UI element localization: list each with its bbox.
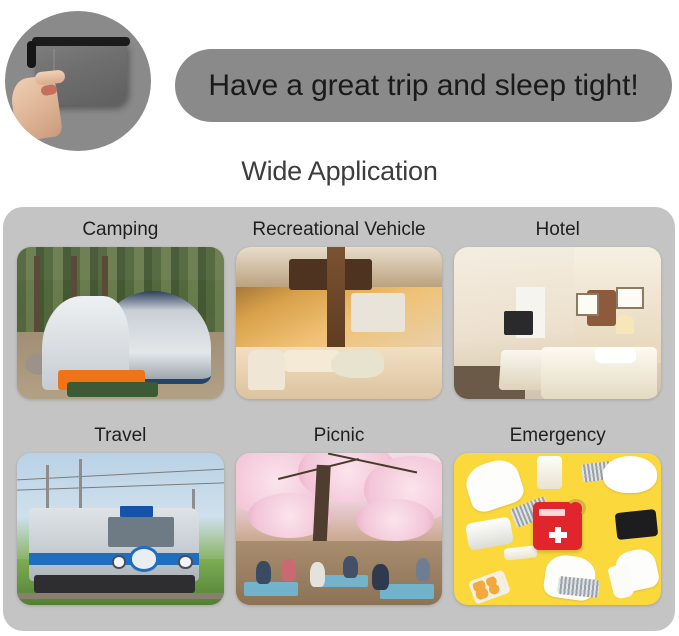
cell-label-picnic: Picnic bbox=[314, 419, 365, 453]
grid-row: Travel Picnic bbox=[11, 419, 667, 625]
photo-hotel bbox=[454, 247, 661, 399]
photo-picnic bbox=[236, 453, 443, 605]
pouch-zipper bbox=[32, 37, 130, 46]
photo-emergency bbox=[454, 453, 661, 605]
grid-cell-recreational-vehicle: Recreational Vehicle bbox=[230, 213, 449, 419]
photo-recreational-vehicle bbox=[236, 247, 443, 399]
cell-label-recreational-vehicle: Recreational Vehicle bbox=[252, 213, 425, 247]
first-aid-kit-icon bbox=[533, 502, 583, 551]
hand bbox=[9, 74, 63, 142]
cell-label-emergency: Emergency bbox=[510, 419, 606, 453]
grid-cell-picnic: Picnic bbox=[230, 419, 449, 625]
product-hero-image bbox=[5, 11, 151, 151]
application-grid: Camping Recreational Vehicle bbox=[3, 207, 675, 631]
cell-label-travel: Travel bbox=[94, 419, 146, 453]
zipper-pull-icon bbox=[27, 41, 36, 68]
headline-banner: Have a great trip and sleep tight! bbox=[175, 49, 672, 122]
cell-label-camping: Camping bbox=[82, 213, 158, 247]
section-heading: Wide Application bbox=[0, 156, 679, 187]
grid-cell-travel: Travel bbox=[11, 419, 230, 625]
grid-cell-hotel: Hotel bbox=[448, 213, 667, 419]
grid-cell-emergency: Emergency bbox=[448, 419, 667, 625]
cell-label-hotel: Hotel bbox=[536, 213, 580, 247]
headline-text: Have a great trip and sleep tight! bbox=[208, 69, 638, 103]
grid-row: Camping Recreational Vehicle bbox=[11, 213, 667, 419]
header-section: Have a great trip and sleep tight! bbox=[0, 0, 679, 152]
photo-travel bbox=[17, 453, 224, 605]
grid-cell-camping: Camping bbox=[11, 213, 230, 419]
photo-camping bbox=[17, 247, 224, 399]
